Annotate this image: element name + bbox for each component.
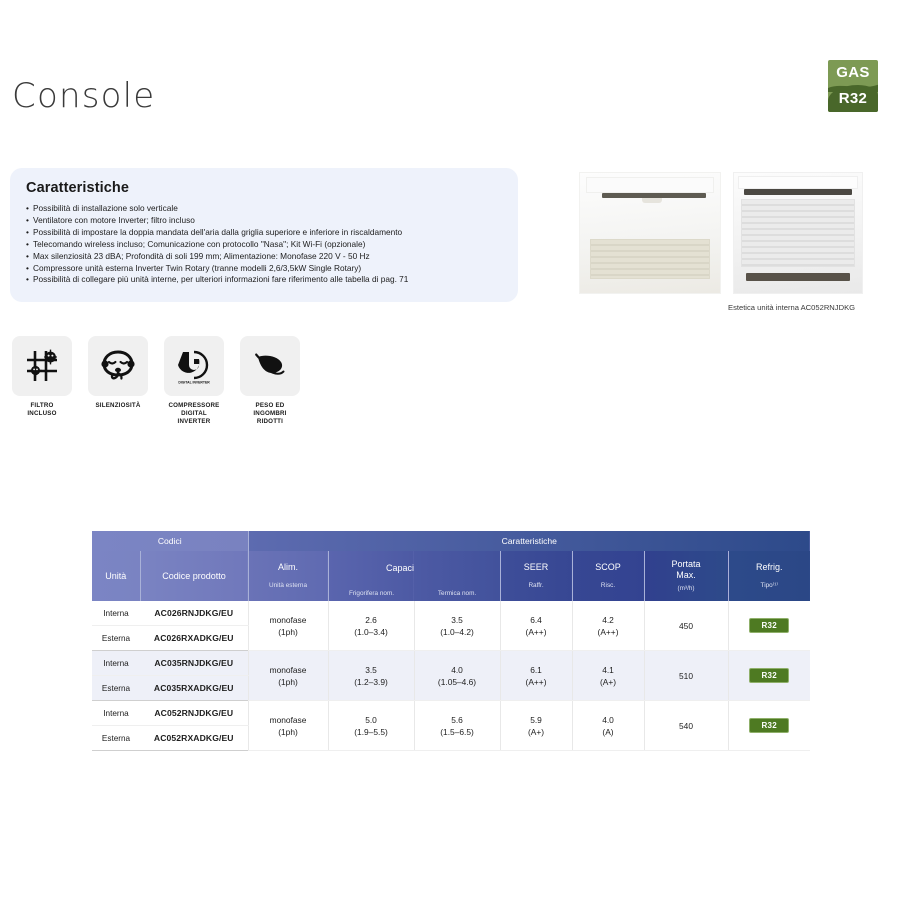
group-header-codici: Codici xyxy=(92,531,248,551)
features-panel: Caratteristiche •Possibilità di installa… xyxy=(10,168,518,302)
sleeping-baby-icon xyxy=(98,346,138,386)
scop-value: 4.2 xyxy=(602,615,614,625)
termica-nominal: 4.0 xyxy=(451,665,463,675)
column-header-sublabel: Frigorifera nom. xyxy=(329,588,415,599)
frigorifera-range: (1.2–3.9) xyxy=(329,676,414,688)
cell-alimentazione: monofase (1ph) xyxy=(248,651,328,701)
cell-product-code: AC026RNJDKG/EU xyxy=(140,601,248,626)
column-header-label: Portata Max. xyxy=(645,559,728,581)
feature-item: •Telecomando wireless incluso; Comunicaz… xyxy=(26,239,502,251)
feature-item: •Max silenziosità 23 dBA; Profondità di … xyxy=(26,251,502,263)
caption-line-2: INCLUSO xyxy=(27,410,56,417)
cell-unit-type: Interna xyxy=(92,651,140,676)
seer-value: 6.4 xyxy=(530,615,542,625)
filter-grid-icon xyxy=(22,346,62,386)
column-header-capacita-termica: Termica nom. xyxy=(414,551,500,601)
feature-text: Possibilità di impostare la doppia manda… xyxy=(33,227,402,237)
column-header-label: SEER xyxy=(501,562,572,573)
caption-line-2: DIGITAL INVERTER xyxy=(178,410,211,425)
alim-line-1: monofase xyxy=(270,615,307,625)
page-title: Console xyxy=(12,76,155,116)
column-header-alimentazione: Alim. Unità esterna xyxy=(248,551,328,601)
refrigerant-badge: R32 xyxy=(749,668,789,683)
seer-value: 5.9 xyxy=(530,715,542,725)
cell-product-code: AC052RNJDKG/EU xyxy=(140,701,248,726)
feature-icon-caption: FILTRO INCLUSO xyxy=(12,402,72,418)
cell-unit-type: Esterna xyxy=(92,626,140,651)
cell-refrigerante: R32 xyxy=(728,601,810,651)
feature-text: Telecomando wireless incluso; Comunicazi… xyxy=(33,239,365,249)
column-header-scop: SCOP Risc. xyxy=(572,551,644,601)
bullet-icon: • xyxy=(26,251,33,263)
cell-product-code: AC026RXADKG/EU xyxy=(140,626,248,651)
cell-capacita-frigorifera: 5.0 (1.9–5.5) xyxy=(328,701,414,751)
column-header-refrigerante: Refrig. Tipo⁽¹⁾ xyxy=(728,551,810,601)
alim-line-2: (1ph) xyxy=(249,676,328,688)
scop-value: 4.1 xyxy=(602,665,614,675)
column-header-capacita-frigorifera: Capacità (kW) Frigorifera nom. xyxy=(328,551,414,601)
portata-line-1: Portata xyxy=(672,559,701,569)
column-header-codice-prodotto: Codice prodotto xyxy=(140,551,248,601)
column-header-label: SCOP xyxy=(573,562,644,573)
cell-capacita-frigorifera: 3.5 (1.2–3.9) xyxy=(328,651,414,701)
cell-portata-max: 510 xyxy=(644,651,728,701)
column-header-sublabel: (m³/h) xyxy=(645,583,728,594)
caption-line-2: INGOMBRI xyxy=(253,410,286,417)
photo-handle xyxy=(642,198,662,203)
termica-nominal: 5.6 xyxy=(451,715,463,725)
photo-upper-air-outlet xyxy=(744,189,852,195)
alim-line-1: monofase xyxy=(270,715,307,725)
refrigerant-badge: R32 xyxy=(749,618,789,633)
frigorifera-nominal: 2.6 xyxy=(365,615,377,625)
termica-nominal: 3.5 xyxy=(451,615,463,625)
feather-icon xyxy=(250,346,290,386)
cell-product-code: AC052RXADKG/EU xyxy=(140,726,248,751)
column-header-unita: Unità xyxy=(92,551,140,601)
seer-class: (A++) xyxy=(501,676,572,688)
icon-tile xyxy=(240,336,300,396)
frigorifera-nominal: 5.0 xyxy=(365,715,377,725)
icon-tile xyxy=(88,336,148,396)
cell-portata-max: 540 xyxy=(644,701,728,751)
cell-refrigerante: R32 xyxy=(728,701,810,751)
photo-lower-grille xyxy=(590,239,710,279)
feature-icon-filtro-incluso: FILTRO INCLUSO xyxy=(12,336,72,418)
product-photo-caption: Estetica unità interna AC052RNJDKG xyxy=(728,303,855,312)
alim-line-2: (1ph) xyxy=(249,726,328,738)
specifications-table: Codici Caratteristiche Unità Codice prod… xyxy=(92,531,810,751)
cell-capacita-termica: 3.5 (1.0–4.2) xyxy=(414,601,500,651)
frigorifera-nominal: 3.5 xyxy=(365,665,377,675)
photo-top-panel xyxy=(586,177,714,193)
column-header-sublabel: Termica nom. xyxy=(414,588,500,599)
table-group-header-row: Codici Caratteristiche xyxy=(92,531,810,551)
alim-line-1: monofase xyxy=(270,665,307,675)
feature-icon-caption: PESO ED INGOMBRI RIDOTTI xyxy=(240,402,300,426)
alim-line-2: (1ph) xyxy=(249,626,328,638)
cell-alimentazione: monofase (1ph) xyxy=(248,701,328,751)
feature-text: Ventilatore con motore Inverter; filtro … xyxy=(33,215,195,225)
photo-top-panel xyxy=(738,176,858,189)
bullet-icon: • xyxy=(26,203,33,215)
cell-unit-type: Interna xyxy=(92,701,140,726)
cell-seer: 6.4 (A++) xyxy=(500,601,572,651)
photo-lower-air-outlet xyxy=(746,273,850,281)
photo-front-grille xyxy=(741,199,855,267)
icon-tile xyxy=(12,336,72,396)
column-header-label: Alim. xyxy=(249,562,328,573)
bullet-icon: • xyxy=(26,274,33,286)
feature-icon-caption: COMPRESSORE DIGITAL INVERTER xyxy=(164,402,224,426)
column-header-sublabel: Tipo⁽¹⁾ xyxy=(729,580,811,591)
column-header-seer: SEER Raffr. xyxy=(500,551,572,601)
caption-line-1: SILENZIOSITÀ xyxy=(95,402,140,409)
feature-text: Max silenziosità 23 dBA; Profondità di s… xyxy=(33,251,370,261)
cell-capacita-frigorifera: 2.6 (1.0–3.4) xyxy=(328,601,414,651)
gas-refrigerant-badge: GAS R32 xyxy=(828,60,878,112)
feature-item: •Possibilità di collegare più unità inte… xyxy=(26,274,502,286)
bullet-icon: • xyxy=(26,215,33,227)
caption-line-1: FILTRO xyxy=(30,402,53,409)
cell-alimentazione: monofase (1ph) xyxy=(248,601,328,651)
column-header-label: Unità xyxy=(92,571,140,582)
termica-range: (1.5–6.5) xyxy=(415,726,500,738)
table-column-header-row: Unità Codice prodotto Alim. Unità estern… xyxy=(92,551,810,601)
scop-class: (A) xyxy=(573,726,644,738)
features-list: •Possibilità di installazione solo verti… xyxy=(26,203,502,286)
features-heading: Caratteristiche xyxy=(26,180,502,196)
frigorifera-range: (1.9–5.5) xyxy=(329,726,414,738)
cell-scop: 4.2 (A++) xyxy=(572,601,644,651)
product-photo-console-front xyxy=(579,172,721,294)
column-header-sublabel: Raffr. xyxy=(501,580,572,591)
caption-line-1: PESO ED xyxy=(256,402,285,409)
cell-unit-type: Esterna xyxy=(92,726,140,751)
cell-refrigerante: R32 xyxy=(728,651,810,701)
column-header-label: Refrig. xyxy=(729,562,811,573)
frigorifera-range: (1.0–3.4) xyxy=(329,626,414,638)
column-header-sublabel: Unità esterna xyxy=(249,580,328,591)
scop-value: 4.0 xyxy=(602,715,614,725)
scop-class: (A++) xyxy=(573,626,644,638)
digital-inverter-icon: DIGITAL INVERTER xyxy=(174,346,214,386)
portata-line-2: Max. xyxy=(676,570,696,580)
cell-portata-max: 450 xyxy=(644,601,728,651)
termica-range: (1.0–4.2) xyxy=(415,626,500,638)
cell-unit-type: Interna xyxy=(92,601,140,626)
table-row: Interna AC026RNJDKG/EU monofase (1ph) 2.… xyxy=(92,601,810,626)
feature-icon-caption: SILENZIOSITÀ xyxy=(88,402,148,410)
feature-icon-peso-ingombri-ridotti: PESO ED INGOMBRI RIDOTTI xyxy=(240,336,300,426)
feature-item: •Possibilità di impostare la doppia mand… xyxy=(26,227,502,239)
feature-text: Compressore unità esterna Inverter Twin … xyxy=(33,263,361,273)
seer-class: (A+) xyxy=(501,726,572,738)
cell-scop: 4.1 (A+) xyxy=(572,651,644,701)
bullet-icon: • xyxy=(26,263,33,275)
feature-icon-compressore-digital-inverter: DIGITAL INVERTER COMPRESSORE DIGITAL INV… xyxy=(164,336,224,426)
table-row: Interna AC035RNJDKG/EU monofase (1ph) 3.… xyxy=(92,651,810,676)
feature-text: Possibilità di collegare più unità inter… xyxy=(33,274,408,284)
column-header-sublabel: Risc. xyxy=(573,580,644,591)
feature-item: •Compressore unità esterna Inverter Twin… xyxy=(26,263,502,275)
cell-seer: 5.9 (A+) xyxy=(500,701,572,751)
svg-text:DIGITAL INVERTER: DIGITAL INVERTER xyxy=(178,380,210,384)
column-header-portata-max: Portata Max. (m³/h) xyxy=(644,551,728,601)
feature-text: Possibilità di installazione solo vertic… xyxy=(33,203,178,213)
cell-product-code: AC035RXADKG/EU xyxy=(140,676,248,701)
product-photo-console-detail xyxy=(733,172,863,294)
cell-unit-type: Esterna xyxy=(92,676,140,701)
cell-capacita-termica: 5.6 (1.5–6.5) xyxy=(414,701,500,751)
cell-scop: 4.0 (A) xyxy=(572,701,644,751)
caption-line-3: RIDOTTI xyxy=(257,418,283,425)
cell-capacita-termica: 4.0 (1.05–4.6) xyxy=(414,651,500,701)
termica-range: (1.05–4.6) xyxy=(415,676,500,688)
bullet-icon: • xyxy=(26,227,33,239)
feature-item: •Possibilità di installazione solo verti… xyxy=(26,203,502,215)
r32-badge-label: R32 xyxy=(828,90,878,107)
seer-value: 6.1 xyxy=(530,665,542,675)
group-header-caratteristiche: Caratteristiche xyxy=(248,531,810,551)
icon-tile: DIGITAL INVERTER xyxy=(164,336,224,396)
feature-icon-silenziosita: SILENZIOSITÀ xyxy=(88,336,148,410)
gas-badge-label: GAS xyxy=(828,64,878,81)
caption-line-1: COMPRESSORE xyxy=(168,402,219,409)
cell-seer: 6.1 (A++) xyxy=(500,651,572,701)
feature-item: •Ventilatore con motore Inverter; filtro… xyxy=(26,215,502,227)
scop-class: (A+) xyxy=(573,676,644,688)
column-header-label: Codice prodotto xyxy=(141,571,248,582)
table-row: Interna AC052RNJDKG/EU monofase (1ph) 5.… xyxy=(92,701,810,726)
refrigerant-badge: R32 xyxy=(749,718,789,733)
cell-product-code: AC035RNJDKG/EU xyxy=(140,651,248,676)
seer-class: (A++) xyxy=(501,626,572,638)
bullet-icon: • xyxy=(26,239,33,251)
